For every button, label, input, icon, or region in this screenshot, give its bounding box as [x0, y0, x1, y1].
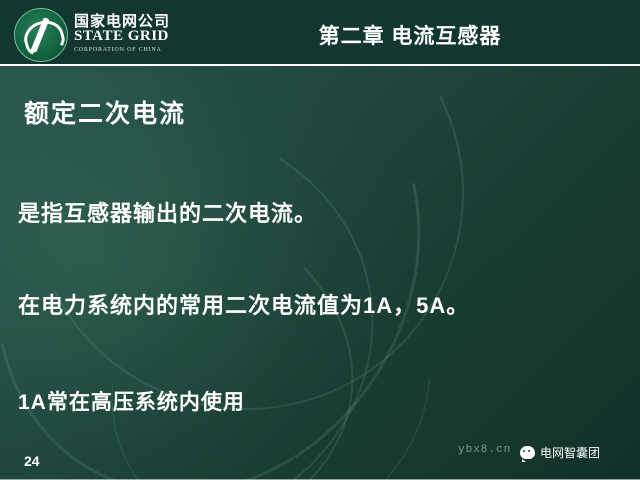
state-grid-logo-icon [14, 8, 68, 62]
wechat-icon [520, 446, 535, 459]
site-watermark: ybx8.cn [458, 444, 511, 456]
content-heading: 额定二次电流 [24, 94, 186, 130]
logo-company-subtitle-en: CORPORATION OF CHINA [74, 47, 162, 53]
chapter-title: 第二章 电流互感器 [210, 20, 610, 50]
slide-canvas: 国家电网公司 STATE GRID CORPORATION OF CHINA 第… [0, 0, 640, 480]
logo-company-name-en: STATE GRID [74, 28, 169, 45]
wechat-credit: 电网智囊团 [520, 444, 600, 461]
state-grid-logo: 国家电网公司 STATE GRID CORPORATION OF CHINA [14, 6, 194, 60]
wechat-label: 电网智囊团 [540, 444, 600, 461]
content-paragraph-1: 是指互感器输出的二次电流。 [18, 196, 317, 228]
content-paragraph-3: 1A常在高压系统内使用 [18, 386, 245, 416]
page-number: 24 [24, 453, 40, 469]
content-paragraph-2: 在电力系统内的常用二次电流值为1A，5A。 [18, 288, 469, 320]
slide-header: 国家电网公司 STATE GRID CORPORATION OF CHINA 第… [0, 0, 640, 66]
slide-body: 额定二次电流 是指互感器输出的二次电流。 在电力系统内的常用二次电流值为1A，5… [0, 66, 640, 480]
